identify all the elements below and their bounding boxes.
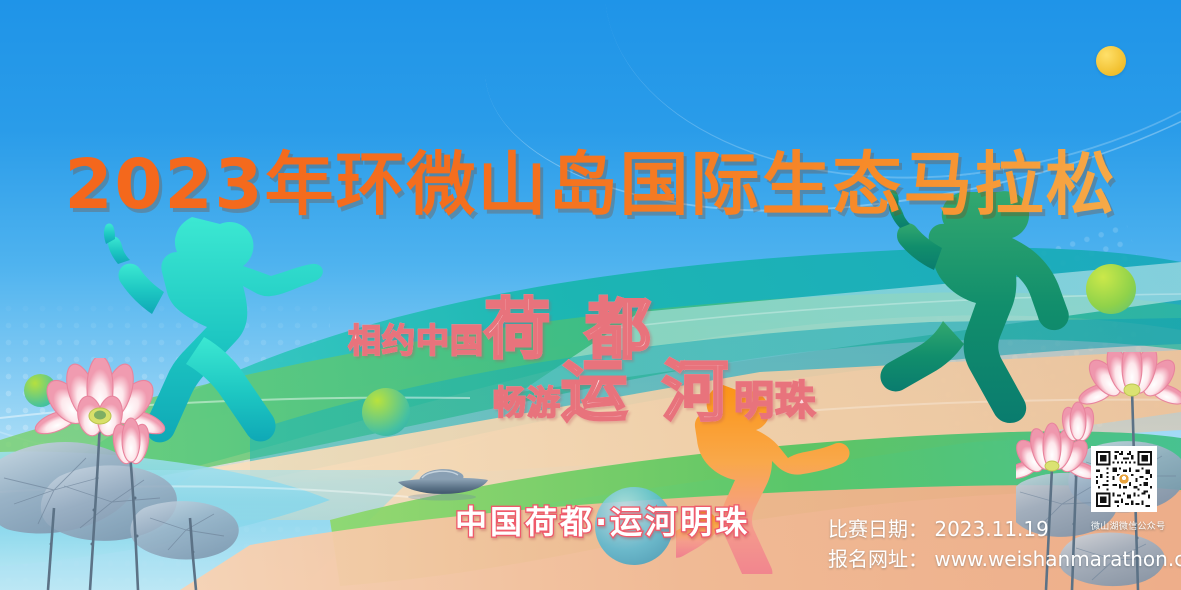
- slogan-1-small: 相约中国: [348, 314, 484, 362]
- qr-caption: 微山湖微信公众号: [1091, 519, 1165, 532]
- wooden-boat: [392, 456, 492, 502]
- slogan-line-2: 畅游 运 河 明珠: [493, 338, 816, 434]
- sun-icon: [1096, 46, 1126, 76]
- slogan-2-large: 运 河: [561, 338, 734, 434]
- registration-url-line[interactable]: 报名网址： www.weishanmarathon.com: [828, 544, 1181, 574]
- qr-code-block: 微山湖微信公众号: [1091, 446, 1165, 532]
- slogan-2-medium: 明珠: [734, 368, 816, 426]
- lotus-flowers-left: [0, 358, 274, 590]
- qr-code-icon[interactable]: [1091, 446, 1157, 512]
- marathon-poster: 2023年环微山岛国际生态马拉松 相约中国 荷 都 畅游 运 河 明珠 中国荷都…: [0, 0, 1181, 590]
- page-title: 2023年环微山岛国际生态马拉松: [0, 128, 1181, 228]
- tagline: 中国荷都·运河明珠: [455, 497, 750, 543]
- slogan-2-small: 畅游: [493, 376, 561, 424]
- green-sphere-middle: [362, 388, 410, 436]
